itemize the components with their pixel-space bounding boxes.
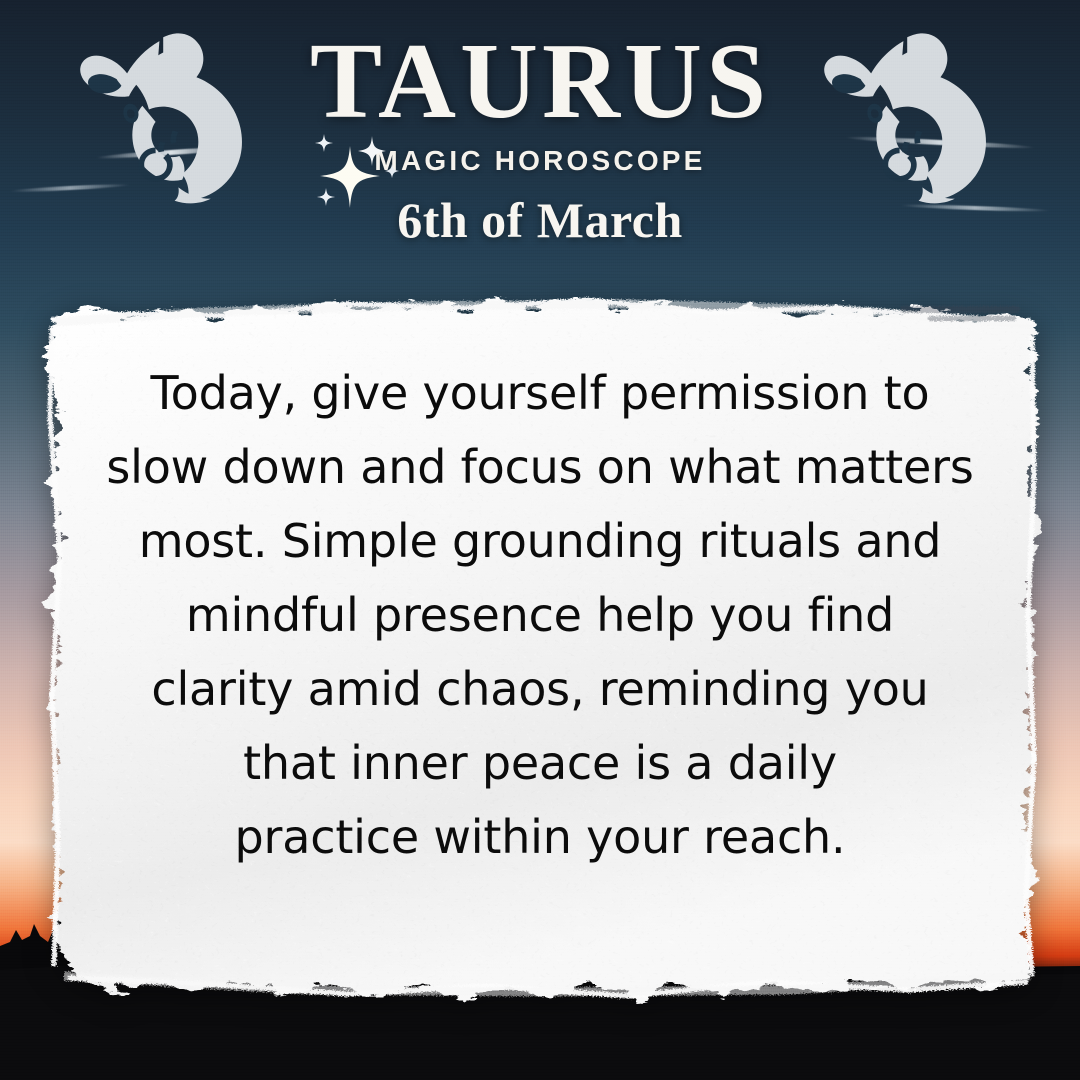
- film-grain-overlay: [0, 0, 1080, 1080]
- horoscope-card: TAURUS MAGIC HOROSCOPE 6th of March: [0, 0, 1080, 1080]
